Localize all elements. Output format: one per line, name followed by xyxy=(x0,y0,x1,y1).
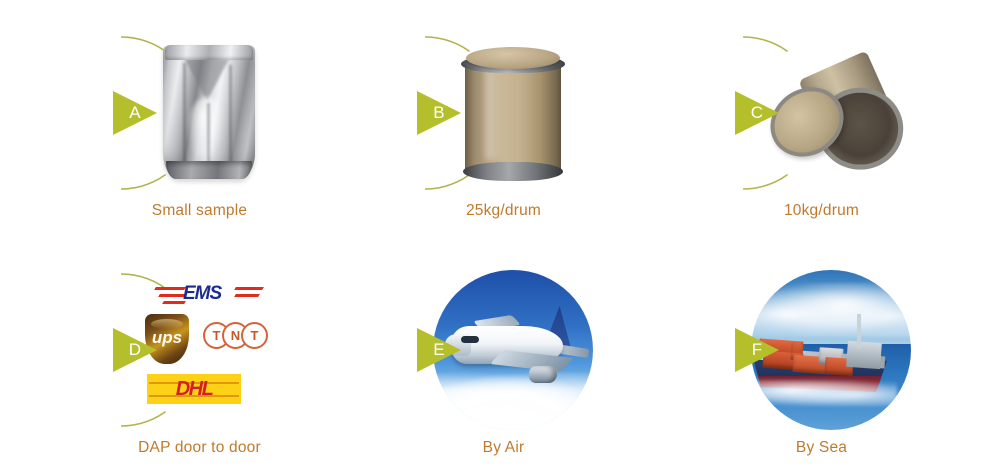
caption-a: Small sample xyxy=(33,202,366,220)
marker-letter-b: B xyxy=(417,85,457,141)
tnt-letter-3: T xyxy=(241,322,268,349)
caption-e: By Air xyxy=(337,439,670,457)
circle-frame-a: A xyxy=(121,25,297,201)
marker-letter-d: D xyxy=(113,322,153,378)
marker-arrow-f: F xyxy=(735,322,791,378)
marker-arrow-b: B xyxy=(417,85,473,141)
circle-frame-c: C xyxy=(743,25,919,201)
circle-frame-f: F xyxy=(743,262,919,438)
foil-pouch-graphic xyxy=(163,45,255,179)
caption-c: 10kg/drum xyxy=(655,202,988,220)
marker-letter-e: E xyxy=(417,322,457,378)
marker-letter-a: A xyxy=(113,85,153,141)
circle-frame-d: EMS ups T N T xyxy=(121,262,297,438)
fiber-drum-graphic xyxy=(461,47,565,181)
packaging-shipping-board: A Small sample xyxy=(0,0,1000,473)
item-card-e[interactable]: E By Air xyxy=(337,237,670,473)
ems-logo-text: EMS xyxy=(183,283,221,305)
marker-letter-f: F xyxy=(735,322,775,378)
ems-logo: EMS xyxy=(153,282,265,308)
marker-arrow-a: A xyxy=(113,85,169,141)
marker-arrow-c: C xyxy=(735,85,791,141)
item-card-b[interactable]: B 25kg/drum xyxy=(337,0,670,236)
item-card-f[interactable]: F By Sea xyxy=(655,237,988,473)
dhl-logo: DHL xyxy=(147,374,241,404)
marker-arrow-d: D xyxy=(113,322,169,378)
tnt-logo: T N T xyxy=(203,322,269,350)
item-card-c[interactable]: C 10kg/drum xyxy=(655,0,988,236)
item-card-d[interactable]: EMS ups T N T xyxy=(33,237,366,473)
item-card-a[interactable]: A Small sample xyxy=(33,0,366,236)
caption-f: By Sea xyxy=(655,439,988,457)
dhl-logo-text: DHL xyxy=(147,378,241,401)
caption-b: 25kg/drum xyxy=(337,202,670,220)
caption-d: DAP door to door xyxy=(33,439,366,457)
marker-arrow-e: E xyxy=(417,322,473,378)
circle-frame-b: B xyxy=(425,25,601,201)
marker-letter-c: C xyxy=(735,85,775,141)
circle-frame-e: E xyxy=(425,262,601,438)
